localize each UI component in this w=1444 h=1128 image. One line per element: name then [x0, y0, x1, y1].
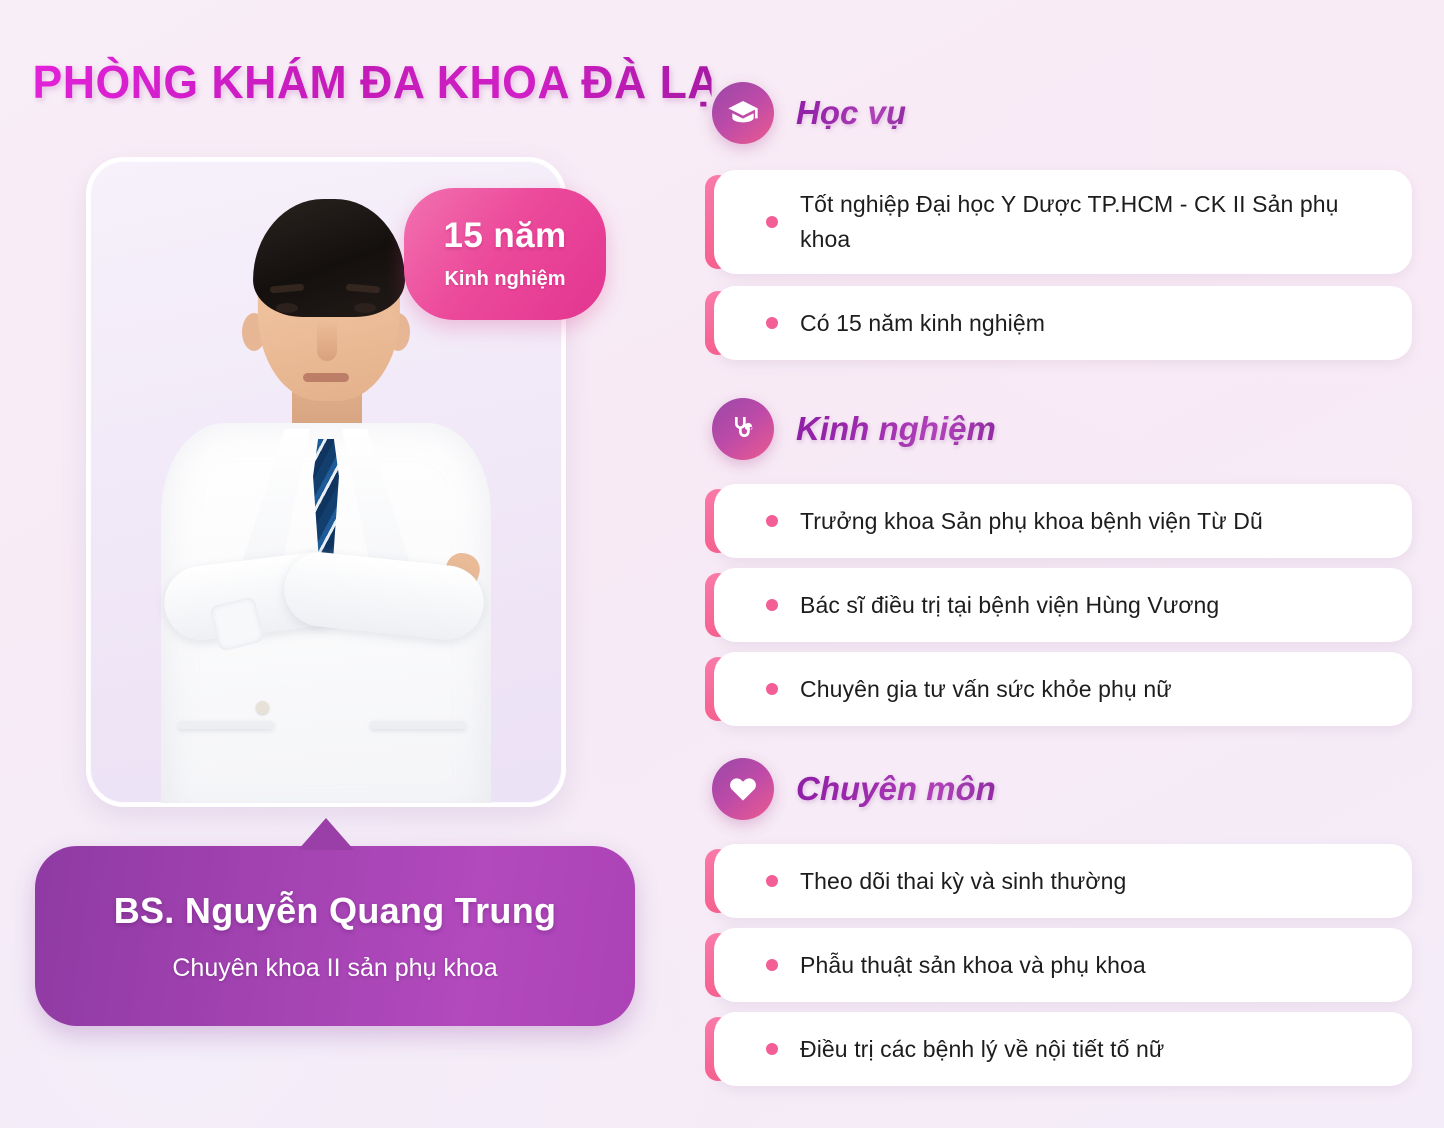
experience-badge: 15 năm Kinh nghiệm — [404, 188, 606, 320]
credential-text: Theo dõi thai kỳ và sinh thường — [800, 864, 1160, 899]
hair — [253, 199, 405, 317]
bullet-icon — [766, 1043, 778, 1055]
credential-text: Chuyên gia tư vấn sức khỏe phụ nữ — [800, 672, 1206, 707]
credential-text: Tốt nghiệp Đại học Y Dược TP.HCM - CK II… — [800, 187, 1412, 257]
section-title: Chuyên môn — [796, 770, 996, 808]
doctor-name-card: BS. Nguyễn Quang Trung Chuyên khoa II sả… — [35, 846, 635, 1026]
bullet-icon — [766, 515, 778, 527]
heart-icon — [712, 758, 774, 820]
credential-text: Phẫu thuật sản khoa và phụ khoa — [800, 948, 1180, 983]
section-title: Kinh nghiệm — [796, 410, 996, 448]
credential-item: Tốt nghiệp Đại học Y Dược TP.HCM - CK II… — [714, 170, 1412, 274]
section-header-chuyen-mon: Chuyên môn — [712, 758, 996, 820]
section-header-hoc-vu: Học vụ — [712, 82, 906, 144]
credential-item: Có 15 năm kinh nghiệm — [714, 286, 1412, 360]
eye-left — [276, 303, 298, 313]
section-title: Học vụ — [796, 94, 906, 132]
bullet-icon — [766, 216, 778, 228]
bullet-icon — [766, 959, 778, 971]
credential-text: Trưởng khoa Sản phụ khoa bệnh viện Từ Dũ — [800, 504, 1297, 539]
badge-years-label: Kinh nghiệm — [444, 268, 565, 291]
eye-right — [354, 303, 376, 313]
credentials-column: Học vụ Tốt nghiệp Đại học Y Dược TP.HCM … — [706, 0, 1418, 1128]
nameplate-pointer — [298, 818, 354, 850]
doctor-specialty: Chuyên khoa II sản phụ khoa — [172, 954, 497, 983]
stethoscope-icon — [712, 398, 774, 460]
page-title: PHÒNG KHÁM ĐA KHOA ĐÀ LẠT — [33, 55, 712, 109]
credential-item: Điều trị các bệnh lý về nội tiết tố nữ — [714, 1012, 1412, 1086]
doctor-name: BS. Nguyễn Quang Trung — [114, 890, 557, 932]
credential-item: Chuyên gia tư vấn sức khỏe phụ nữ — [714, 652, 1412, 726]
coat-pocket-left — [178, 721, 274, 729]
credential-item: Theo dõi thai kỳ và sinh thường — [714, 844, 1412, 918]
coat-button — [256, 701, 269, 714]
credential-item: Bác sĩ điều trị tại bệnh viện Hùng Vương — [714, 568, 1412, 642]
bullet-icon — [766, 875, 778, 887]
coat-pocket-right — [370, 721, 466, 729]
bullet-icon — [766, 683, 778, 695]
credential-text: Bác sĩ điều trị tại bệnh viện Hùng Vương — [800, 588, 1253, 623]
bullet-icon — [766, 317, 778, 329]
mouth — [303, 373, 349, 382]
nose — [317, 321, 337, 361]
credential-text: Có 15 năm kinh nghiệm — [800, 306, 1079, 341]
bullet-icon — [766, 599, 778, 611]
badge-years-value: 15 năm — [443, 217, 566, 256]
credential-item: Trưởng khoa Sản phụ khoa bệnh viện Từ Dũ — [714, 484, 1412, 558]
credential-text: Điều trị các bệnh lý về nội tiết tố nữ — [800, 1032, 1198, 1067]
section-header-kinh-nghiem: Kinh nghiệm — [712, 398, 996, 460]
graduation-cap-icon — [712, 82, 774, 144]
credential-item: Phẫu thuật sản khoa và phụ khoa — [714, 928, 1412, 1002]
